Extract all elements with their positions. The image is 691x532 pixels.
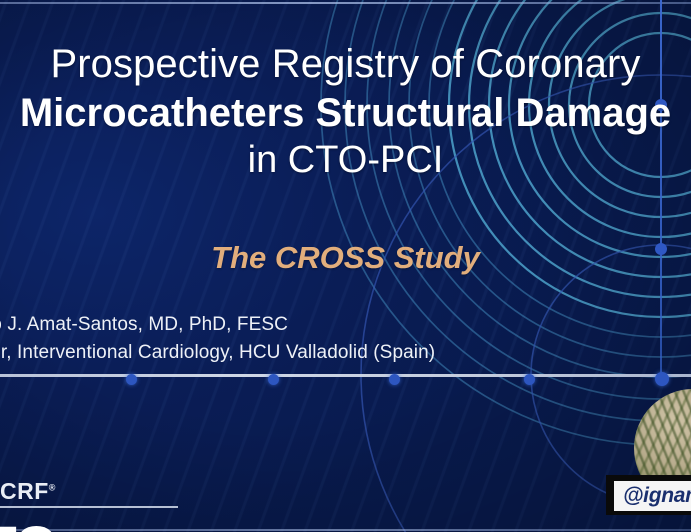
slide-title: Prospective Registry of Coronary Microca… [0,44,691,179]
logo-divider [0,506,178,508]
presenter-name: Ignacio J. Amat-Santos, MD, PhD, FESC [0,314,288,336]
slide-subtitle: The CROSS Study [0,240,691,276]
logo-registered-icon: ® [49,482,56,492]
divider-dot-5 [655,372,669,386]
divider-dot-1 [126,374,137,385]
logo-cto-text: CTO [0,520,57,532]
presenter-affiliation: Director, Interventional Cardiology, HCU… [0,342,435,364]
title-line-2: Microcatheters Structural Damage [0,93,691,134]
title-slide: Prospective Registry of Coronary Microca… [0,0,691,532]
social-handle-inner: @ignamatsan [614,481,691,511]
top-accent-line [0,2,691,4]
divider-dot-3 [389,374,400,385]
horizontal-divider-line [0,374,691,377]
social-handle-text: @ignamatsan [623,484,691,508]
logo-wordmark: CTO PLUS [0,520,133,532]
divider-dot-4 [524,374,535,385]
social-handle-badge: @ignamatsan [606,475,691,515]
logo-org-name: CRF® [0,478,56,505]
divider-dot-2 [268,374,279,385]
title-line-3: in CTO-PCI [0,141,691,180]
title-line-1: Prospective Registry of Coronary [0,44,691,85]
logo-org-text: CRF [0,478,49,504]
